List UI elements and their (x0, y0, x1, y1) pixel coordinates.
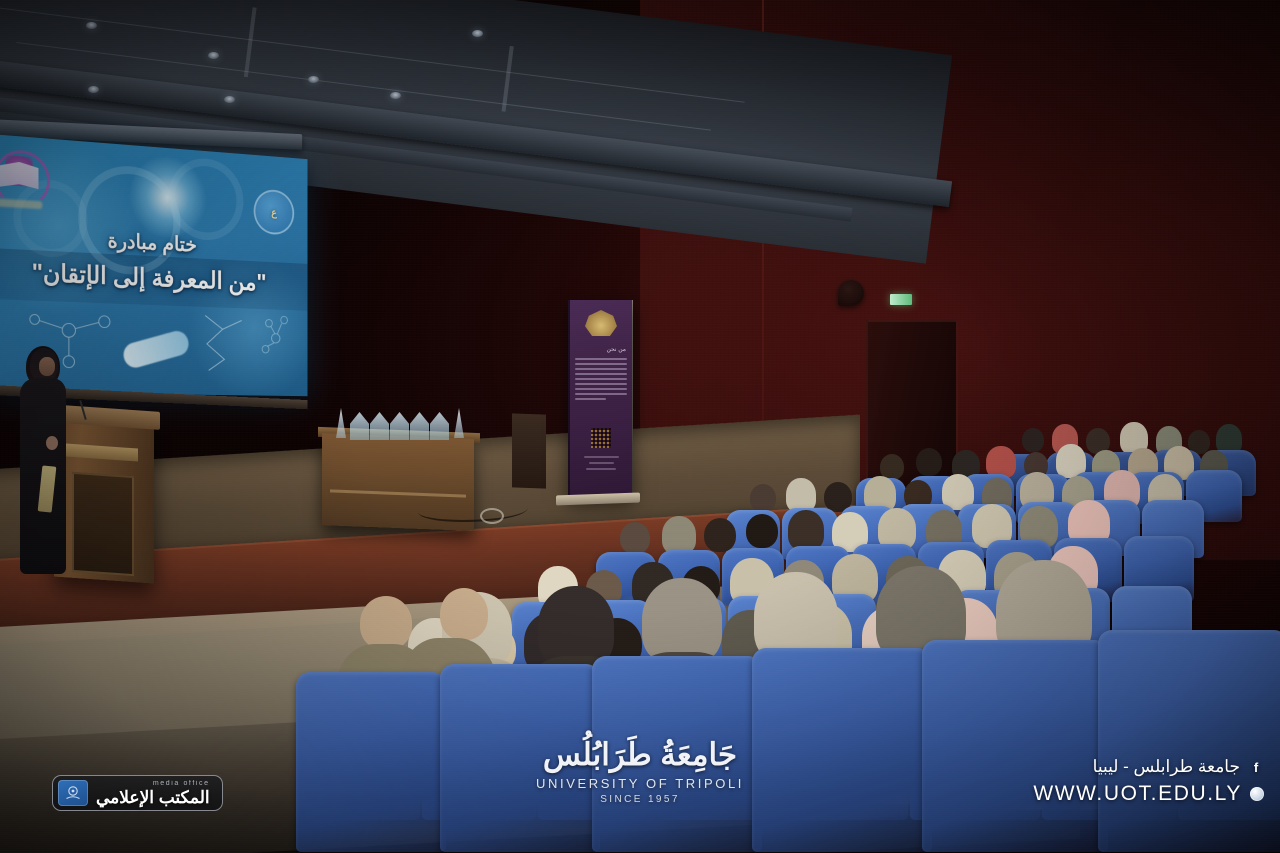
attendee-head (704, 518, 736, 552)
auditorium-seat[interactable] (752, 648, 932, 852)
slide-left-logo-icon (0, 146, 46, 211)
ceiling-downlight (472, 30, 483, 37)
website-row: WWW.UOT.EDU.LY (1033, 782, 1264, 806)
media-office-badge: media office المكتب الإعلامي (52, 775, 223, 811)
slide-molecule-graphic (254, 313, 298, 357)
banner-paragraph (575, 358, 627, 403)
auditorium-seat[interactable] (1098, 630, 1280, 852)
ceiling-downlight (208, 52, 219, 59)
ceiling-downlight (86, 22, 97, 29)
facebook-page-label: جامعة طرابلس - ليبيا (1093, 757, 1240, 777)
attendee-headscarf (786, 478, 816, 512)
media-office-arabic: المكتب الإعلامي (96, 789, 210, 806)
media-office-glyph (64, 785, 82, 801)
ceiling-downlight (224, 96, 235, 103)
media-office-logo-icon (58, 780, 88, 806)
auditorium-seat[interactable] (922, 640, 1108, 852)
ceiling-downlight (308, 76, 319, 83)
podium-front-panel (72, 472, 134, 576)
contact-watermark: جامعة طرابلس - ليبيا f WWW.UOT.EDU.LY (1033, 757, 1264, 811)
presenter-at-podium (18, 348, 68, 578)
website-url: WWW.UOT.EDU.LY (1033, 782, 1242, 806)
banner-title: من نحن (570, 346, 626, 353)
slide-molecule-graphic (200, 310, 261, 374)
attendee-head (440, 588, 488, 640)
attendee-head (750, 484, 776, 512)
exit-sign (890, 294, 912, 305)
attendee-head (746, 514, 778, 548)
attendee-headscarf (662, 516, 696, 554)
attendee-head (360, 596, 412, 650)
media-office-english: media office (153, 780, 210, 787)
wall-speaker (838, 280, 864, 306)
banner-emblem-icon (585, 310, 617, 336)
globe-icon (1250, 787, 1264, 801)
presenter-face (39, 357, 55, 376)
auditorium-photo: ع ختام مبادرة "من المعرفة إلى الإتقان" (0, 0, 1280, 853)
auditorium-seat[interactable] (296, 672, 446, 852)
presenter-hand (46, 436, 58, 450)
attendee-head (620, 522, 650, 554)
attendee-headscarf (788, 510, 824, 550)
facebook-row: جامعة طرابلس - ليبيا f (1033, 757, 1264, 777)
facebook-icon: f (1248, 759, 1264, 775)
auditorium-seat[interactable] (592, 656, 762, 852)
auditorium-seat[interactable] (440, 664, 600, 852)
ceiling-downlight (390, 92, 401, 99)
attendee-head (916, 448, 942, 476)
media-office-text: media office المكتب الإعلامي (96, 780, 210, 806)
ceiling-downlight (88, 86, 99, 93)
attendee-head (1022, 428, 1044, 452)
slide-right-logo-text: ع (271, 206, 277, 218)
